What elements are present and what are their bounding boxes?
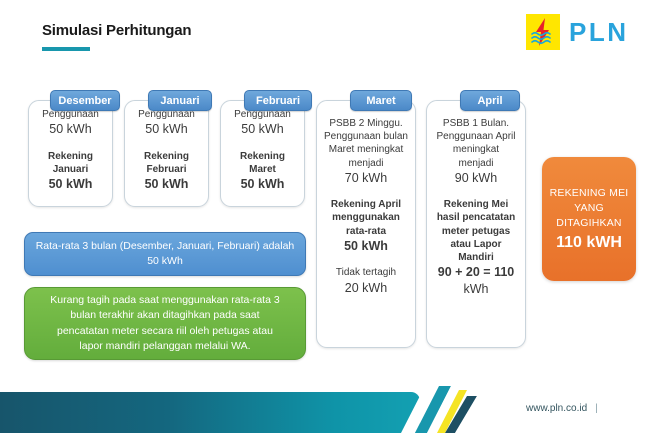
- note-line4: lapor mandiri pelanggan melalui WA.: [50, 339, 279, 354]
- maret-note-line3: Maret meningkat: [321, 143, 411, 156]
- average-line1: Rata-rata 3 bulan (Desember, Januari, Fe…: [36, 239, 295, 254]
- month-card-januari: Penggunaan 50 kWh Rekening Februari 50 k…: [124, 100, 209, 207]
- month-card-april: PSBB 1 Bulan. Penggunaan April meningkat…: [426, 100, 526, 348]
- title-underline-rule: [42, 47, 90, 51]
- bill-label-line1: Rekening: [33, 150, 108, 163]
- april-note-line1: PSBB 1 Bulan.: [431, 117, 521, 130]
- month-card-februari: Penggunaan 50 kWh Rekening Maret 50 kWh: [220, 100, 305, 207]
- maret-bill-line1: Rekening April: [321, 198, 411, 211]
- maret-bill-value: 50 kWh: [321, 238, 411, 255]
- footer-separator: |: [595, 403, 598, 414]
- bill-label-line1: Rekening: [225, 150, 300, 163]
- bill-label-line2: Februari: [129, 163, 204, 176]
- month-tab-maret[interactable]: Maret: [350, 90, 412, 111]
- note-line3: pencatatan meter secara riil oleh petuga…: [50, 324, 279, 339]
- result-summary-box: REKENING MEI YANG DITAGIHKAN 110 kWH: [542, 157, 636, 281]
- april-calc-unit: kWh: [431, 281, 521, 298]
- maret-bill-line2: menggunakan: [321, 211, 411, 224]
- result-amount: 110 kWH: [556, 234, 622, 252]
- bill-label-line2: Januari: [33, 163, 108, 176]
- maret-bill-line3: rata-rata: [321, 225, 411, 238]
- month-tab-april[interactable]: April: [460, 90, 520, 111]
- usage-value: 50 kWh: [33, 121, 108, 138]
- maret-unbilled-label: Tidak tertagih: [321, 266, 411, 279]
- month-tab-januari[interactable]: Januari: [148, 90, 212, 111]
- maret-note-line2: Penggunaan bulan: [321, 130, 411, 143]
- note-line1: Kurang tagih pada saat menggunakan rata-…: [50, 293, 279, 308]
- result-line3: DITAGIHKAN: [556, 216, 621, 231]
- maret-note-line4: menjadi: [321, 157, 411, 170]
- footer-diagonal-decoration: [395, 386, 525, 433]
- usage-value: 50 kWh: [225, 121, 300, 138]
- april-bill-line5: Mandiri: [431, 251, 521, 264]
- footer-url[interactable]: www.pln.co.id|: [526, 403, 598, 414]
- pln-lightning-logo-icon: [526, 14, 560, 50]
- pln-logo-text: PLN: [569, 19, 629, 45]
- average-info-box: Rata-rata 3 bulan (Desember, Januari, Fe…: [24, 232, 306, 276]
- april-bill-line4: atau Lapor: [431, 238, 521, 251]
- month-tab-desember[interactable]: Desember: [50, 90, 120, 111]
- result-line1: REKENING MEI: [550, 186, 629, 201]
- footer: www.pln.co.id|: [0, 386, 650, 433]
- month-card-desember: Penggunaan 50 kWh Rekening Januari 50 kW…: [28, 100, 113, 207]
- bill-value: 50 kWh: [33, 176, 108, 193]
- april-note-line4: menjadi: [431, 157, 521, 170]
- result-line2: YANG: [574, 201, 604, 216]
- april-usage-value: 90 kWh: [431, 170, 521, 187]
- bill-label-line1: Rekening: [129, 150, 204, 163]
- april-note-line3: meningkat: [431, 143, 521, 156]
- note-line2: bulan terakhir akan ditagihkan pada saat: [50, 308, 279, 323]
- maret-unbilled-value: 20 kWh: [321, 280, 411, 297]
- bill-value: 50 kWh: [225, 176, 300, 193]
- month-card-maret: PSBB 2 Minggu. Penggunaan bulan Maret me…: [316, 100, 416, 348]
- usage-value: 50 kWh: [129, 121, 204, 138]
- maret-note-line1: PSBB 2 Minggu.: [321, 117, 411, 130]
- slide-canvas: Simulasi Perhitungan PLN Desember Penggu…: [0, 0, 650, 433]
- footer-url-text: www.pln.co.id: [526, 403, 587, 414]
- april-bill-line3: meter petugas: [431, 225, 521, 238]
- bill-label-line2: Maret: [225, 163, 300, 176]
- month-tab-februari[interactable]: Februari: [244, 90, 312, 111]
- april-calc-line: 90 + 20 = 110: [431, 264, 521, 281]
- april-bill-line1: Rekening Mei: [431, 198, 521, 211]
- bill-value: 50 kWh: [129, 176, 204, 193]
- april-note-line2: Penggunaan April: [431, 130, 521, 143]
- pln-logo: PLN: [526, 14, 629, 50]
- april-bill-line2: hasil pencatatan: [431, 211, 521, 224]
- note-info-box: Kurang tagih pada saat menggunakan rata-…: [24, 287, 306, 360]
- average-line2: 50 kWh: [36, 254, 295, 269]
- footer-teal-band: [0, 392, 420, 433]
- page-title: Simulasi Perhitungan: [42, 22, 191, 39]
- maret-usage-value: 70 kWh: [321, 170, 411, 187]
